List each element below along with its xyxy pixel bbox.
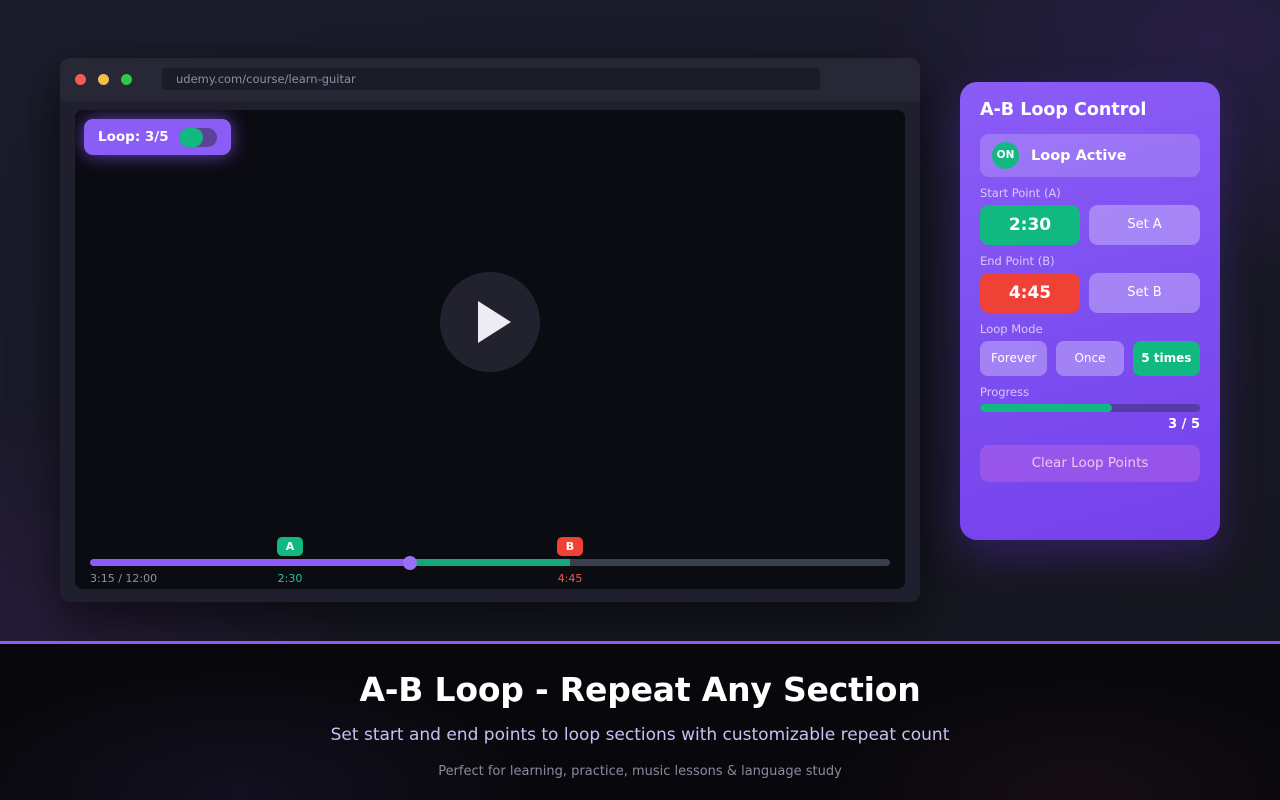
- playhead-handle[interactable]: [403, 556, 417, 570]
- start-point-row: 2:30 Set A: [980, 205, 1200, 245]
- subheadline: Set start and end points to loop section…: [0, 709, 1280, 745]
- loop-a-time-label: 2:30: [278, 572, 303, 585]
- end-point-row: 4:45 Set B: [980, 273, 1200, 313]
- browser-window: udemy.com/course/learn-guitar Loop: 3/5: [60, 58, 920, 602]
- close-window-button[interactable]: [75, 74, 86, 85]
- loop-progress-bar: [980, 404, 1200, 412]
- panel-title: A-B Loop Control: [980, 100, 1200, 120]
- loop-toggle-switch[interactable]: [179, 128, 217, 147]
- loop-mode-label: Loop Mode: [980, 322, 1200, 336]
- footer-section: A-B Loop - Repeat Any Section Set start …: [0, 644, 1280, 800]
- start-point-value: 2:30: [980, 205, 1080, 245]
- current-time-label: 3:15 / 12:00: [90, 572, 157, 585]
- clear-loop-points-button[interactable]: Clear Loop Points: [980, 445, 1200, 482]
- url-bar[interactable]: udemy.com/course/learn-guitar: [162, 68, 820, 90]
- status-badge: ON: [992, 142, 1019, 169]
- tagline: Perfect for learning, practice, music le…: [0, 745, 1280, 779]
- loop-mode-five-times[interactable]: 5 times: [1133, 341, 1200, 376]
- progress-label: Progress: [980, 385, 1200, 399]
- start-point-label: Start Point (A): [980, 186, 1200, 200]
- play-button[interactable]: [440, 272, 540, 372]
- browser-viewport: Loop: 3/5 A B 3:15 / 12:00: [60, 101, 920, 602]
- loop-active-status-row[interactable]: ON Loop Active: [980, 134, 1200, 177]
- minimize-window-button[interactable]: [98, 74, 109, 85]
- maximize-window-button[interactable]: [121, 74, 132, 85]
- loop-toggle-knob: [179, 128, 203, 147]
- loop-mode-once[interactable]: Once: [1056, 341, 1123, 376]
- seek-bar[interactable]: [90, 559, 890, 566]
- loop-mode-group: Forever Once 5 times: [980, 341, 1200, 376]
- set-a-button[interactable]: Set A: [1089, 205, 1200, 245]
- browser-titlebar: udemy.com/course/learn-guitar: [60, 58, 920, 101]
- loop-b-time-label: 4:45: [558, 572, 583, 585]
- loop-marker-b[interactable]: B: [557, 537, 583, 556]
- loop-progress-fill: [980, 404, 1112, 412]
- played-progress: [90, 559, 410, 566]
- play-triangle-icon: [478, 301, 511, 343]
- loop-mode-forever[interactable]: Forever: [980, 341, 1047, 376]
- loop-badge-label: Loop: 3/5: [98, 129, 169, 145]
- video-timeline: A B 3:15 / 12:00 2:30 4:45: [75, 533, 905, 589]
- end-point-value: 4:45: [980, 273, 1080, 313]
- end-point-label: End Point (B): [980, 254, 1200, 268]
- video-player: Loop: 3/5 A B 3:15 / 12:00: [75, 110, 905, 589]
- set-b-button[interactable]: Set B: [1089, 273, 1200, 313]
- loop-marker-a[interactable]: A: [277, 537, 303, 556]
- loop-progress-count: 3 / 5: [980, 417, 1200, 432]
- ab-loop-control-panel: A-B Loop Control ON Loop Active Start Po…: [960, 82, 1220, 540]
- loop-active-label: Loop Active: [1031, 148, 1127, 164]
- headline: A-B Loop - Repeat Any Section: [0, 644, 1280, 709]
- loop-status-badge[interactable]: Loop: 3/5: [84, 119, 231, 155]
- hero-stage: udemy.com/course/learn-guitar Loop: 3/5: [0, 0, 1280, 641]
- section-divider: [0, 641, 1280, 644]
- video-canvas[interactable]: Loop: 3/5: [75, 110, 905, 533]
